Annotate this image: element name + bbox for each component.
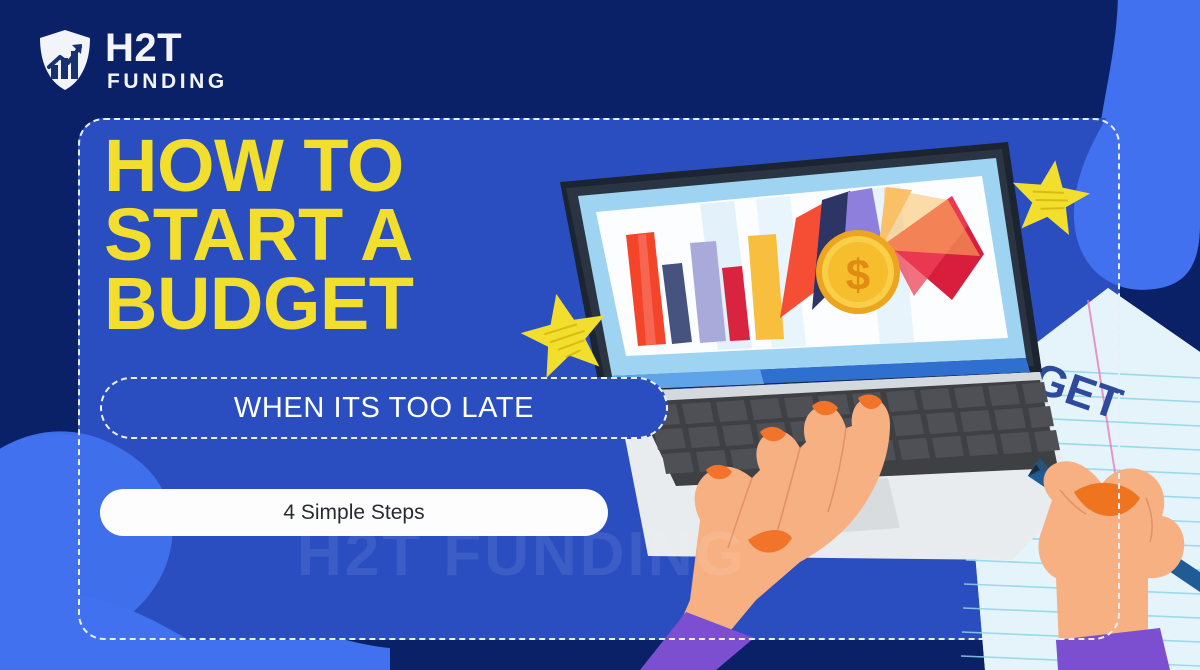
- headline-line-3: BUDGET: [104, 270, 413, 339]
- headline-line-1: HOW TO: [104, 132, 413, 201]
- subtitle-badge: WHEN ITS TOO LATE: [100, 377, 668, 439]
- brand-logo-text: H2T FUNDING: [105, 28, 228, 92]
- brand-logo: H2T FUNDING: [38, 28, 228, 92]
- steps-badge: 4 Simple Steps: [100, 489, 608, 536]
- screen-bar-chart: [626, 232, 784, 346]
- headline-line-2: START A: [104, 201, 413, 270]
- promotional-banner: DGET: [0, 0, 1200, 670]
- dollar-coin-icon: $: [816, 230, 900, 314]
- brand-name-secondary: FUNDING: [107, 71, 228, 92]
- steps-text: 4 Simple Steps: [283, 501, 424, 525]
- brand-name-primary: H2T: [105, 28, 228, 68]
- shield-growth-chart-icon: [38, 29, 92, 91]
- subtitle-text: WHEN ITS TOO LATE: [234, 392, 534, 425]
- coin-dollar-symbol: $: [846, 251, 870, 300]
- headline: HOW TO START A BUDGET: [104, 132, 413, 338]
